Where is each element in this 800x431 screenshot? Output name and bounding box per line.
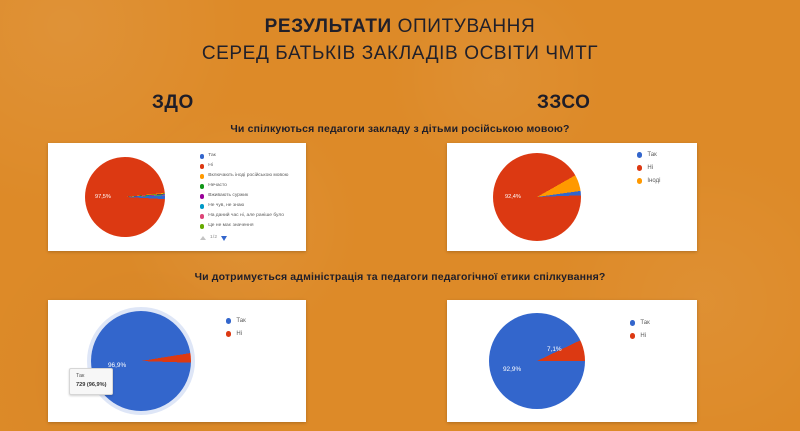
legend-swatch-icon bbox=[226, 331, 231, 336]
chart-legend: Так Ні Включають іноді російською мовою … bbox=[200, 154, 288, 241]
chart-legend: Так Ні Іноді bbox=[637, 152, 660, 191]
legend-label: Ні bbox=[647, 165, 653, 171]
chart-card-zzso-pedagogical-ethics: 92,9% 7,1% Так Ні bbox=[447, 300, 697, 422]
column-header-zdo: ЗДО bbox=[152, 92, 194, 114]
legend-swatch-icon bbox=[637, 152, 642, 157]
legend-item[interactable]: Включають іноді російською мовою bbox=[200, 174, 288, 179]
title-strong: РЕЗУЛЬТАТИ bbox=[265, 16, 392, 37]
legend-label: Не чув, не знаю bbox=[208, 204, 244, 209]
legend-swatch-icon bbox=[200, 174, 204, 178]
chart-card-zdo-russian-language: 97,5% Так Ні Включають іноді російською … bbox=[48, 143, 306, 251]
slide-root: РЕЗУЛЬТАТИ ОПИТУВАННЯ СЕРЕД БАТЬКІВ ЗАКЛ… bbox=[0, 0, 800, 431]
page-title: РЕЗУЛЬТАТИ ОПИТУВАННЯ СЕРЕД БАТЬКІВ ЗАКЛ… bbox=[0, 14, 800, 67]
column-header-zzso: ЗЗСО bbox=[537, 92, 590, 114]
legend-item[interactable]: Вживають суржик bbox=[200, 194, 288, 199]
legend-item[interactable]: Ні bbox=[226, 331, 246, 337]
slice-label-ni: 97,5% bbox=[95, 194, 111, 200]
tooltip-label: Так bbox=[76, 373, 106, 381]
legend-item[interactable]: Це не має значення bbox=[200, 224, 288, 229]
title-rest: ОПИТУВАННЯ bbox=[392, 16, 536, 37]
slice-label-ni: 92,4% bbox=[505, 194, 521, 200]
legend-swatch-icon bbox=[630, 320, 635, 325]
legend-label: Включають іноді російською мовою bbox=[208, 174, 288, 179]
pie-chart-zzso-pedagogical-ethics[interactable]: 92,9% 7,1% bbox=[489, 313, 585, 409]
legend-swatch-icon bbox=[200, 224, 204, 228]
legend-pagination[interactable]: 1/2 bbox=[200, 236, 288, 241]
question-2: Чи дотримується адміністрація та педагог… bbox=[0, 271, 800, 283]
legend-swatch-icon bbox=[637, 178, 642, 183]
legend-label: На даний час ні, але раніше було bbox=[208, 214, 284, 219]
chart-card-zdo-pedagogical-ethics: 96,9% Так 729 (96,9%) Так Ні bbox=[48, 300, 306, 422]
legend-swatch-icon bbox=[630, 333, 635, 338]
legend-item[interactable]: Ні bbox=[630, 333, 650, 339]
legend-item[interactable]: Так bbox=[200, 154, 288, 159]
legend-item[interactable]: Так bbox=[630, 320, 650, 326]
chart-area: 92,4% Так Ні Іноді bbox=[447, 143, 697, 251]
legend-swatch-icon bbox=[226, 318, 231, 323]
legend-label: Це не має значення bbox=[208, 224, 253, 229]
legend-label: Ні bbox=[236, 331, 242, 337]
legend-page-count: 1/2 bbox=[210, 236, 217, 241]
chevron-down-icon[interactable] bbox=[221, 236, 227, 241]
chevron-up-icon[interactable] bbox=[200, 236, 206, 240]
legend-label: Вживають суржик bbox=[208, 194, 248, 199]
legend-label: Ні bbox=[640, 333, 646, 339]
legend-swatch-icon bbox=[200, 194, 204, 198]
legend-item[interactable]: Ні bbox=[637, 165, 660, 171]
legend-swatch-icon bbox=[200, 214, 204, 218]
title-line-secondary: СЕРЕД БАТЬКІВ ЗАКЛАДІВ ОСВІТИ ЧМТГ bbox=[0, 41, 800, 66]
legend-item[interactable]: Так bbox=[637, 152, 660, 158]
legend-swatch-icon bbox=[200, 204, 204, 208]
title-line-primary: РЕЗУЛЬТАТИ ОПИТУВАННЯ bbox=[0, 14, 800, 39]
legend-label: Так bbox=[647, 152, 656, 158]
legend-item[interactable]: На даний час ні, але раніше було bbox=[200, 214, 288, 219]
chart-card-zzso-russian-language: 92,4% Так Ні Іноді bbox=[447, 143, 697, 251]
chart-tooltip: Так 729 (96,9%) bbox=[69, 368, 113, 395]
tooltip-value: 729 (96,9%) bbox=[76, 381, 106, 389]
legend-label: Так bbox=[640, 320, 649, 326]
pie-chart-zzso-russian-language[interactable]: 92,4% bbox=[493, 153, 581, 241]
legend-item[interactable]: Не чув, не знаю bbox=[200, 204, 288, 209]
legend-label: Ні bbox=[208, 164, 213, 169]
chart-legend: Так Ні bbox=[226, 318, 246, 344]
chart-legend: Так Ні bbox=[630, 320, 650, 346]
slice-label-ni: 7,1% bbox=[547, 346, 562, 353]
legend-item[interactable]: Так bbox=[226, 318, 246, 324]
legend-label: Іноді bbox=[647, 178, 660, 184]
chart-area: 92,9% 7,1% Так Ні bbox=[447, 300, 697, 422]
legend-label: Нечасто bbox=[208, 184, 227, 189]
legend-label: Так bbox=[208, 154, 216, 159]
pie-chart-zdo-pedagogical-ethics[interactable]: 96,9% bbox=[91, 311, 191, 411]
legend-swatch-icon bbox=[200, 164, 204, 168]
legend-label: Так bbox=[236, 318, 245, 324]
legend-swatch-icon bbox=[637, 165, 642, 170]
legend-item[interactable]: Ні bbox=[200, 164, 288, 169]
chart-area: 97,5% Так Ні Включають іноді російською … bbox=[48, 143, 306, 251]
legend-swatch-icon bbox=[200, 184, 204, 188]
pie-graphic[interactable] bbox=[91, 311, 191, 411]
pie-chart-zdo-russian-language[interactable]: 97,5% bbox=[85, 157, 165, 237]
slice-label-tak: 92,9% bbox=[503, 366, 521, 373]
legend-item[interactable]: Нечасто bbox=[200, 184, 288, 189]
legend-item[interactable]: Іноді bbox=[637, 178, 660, 184]
legend-swatch-icon bbox=[200, 154, 204, 158]
question-1: Чи спілкуються педагоги закладу з дітьми… bbox=[0, 123, 800, 135]
chart-area: 96,9% Так 729 (96,9%) Так Ні bbox=[48, 300, 306, 422]
pie-graphic[interactable] bbox=[489, 313, 585, 409]
